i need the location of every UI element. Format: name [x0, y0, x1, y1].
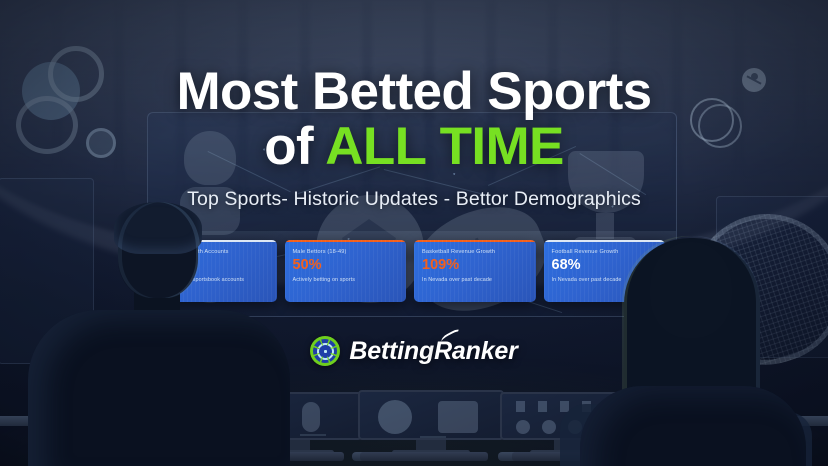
title-accent: ALL TIME	[325, 117, 564, 176]
circle-gauge-1	[516, 420, 530, 434]
basketball-icon	[378, 400, 412, 434]
male-viewer-silhouette	[34, 206, 280, 466]
stat-card[interactable]: Male Bettors (18-49) 50% Actively bettin…	[285, 240, 407, 302]
stat-glyph-2	[538, 401, 547, 412]
card-subtext: In Nevada over past decade	[422, 277, 528, 283]
silhouette-shoulders	[28, 310, 290, 466]
monitor-label-line-2	[300, 434, 326, 436]
field-map-icon	[438, 401, 478, 433]
monitor-stand	[416, 440, 446, 450]
female-viewer-silhouette	[576, 236, 806, 466]
brand-name: BettingRanker	[349, 337, 517, 366]
card-accent-bar	[285, 240, 407, 242]
card-value: 50%	[293, 256, 399, 274]
card-subtext: Actively betting on sports	[293, 277, 399, 283]
infographic-banner: Most Betted Sports of ALL TIME Top Sport…	[0, 0, 828, 466]
stat-card[interactable]: Basketball Revenue Growth 109% In Nevada…	[414, 240, 536, 302]
circle-gauge-2	[542, 420, 556, 434]
betting-ranker-wheel-logo-icon	[310, 336, 340, 366]
title-line-2: of ALL TIME	[0, 119, 828, 174]
logo-spokes	[310, 336, 340, 366]
monitor-label-line	[420, 436, 446, 438]
card-label: Male Bettors (18-49)	[293, 249, 399, 255]
title-line-1: Most Betted Sports	[0, 64, 828, 119]
page-title: Most Betted Sports of ALL TIME	[0, 64, 828, 174]
title-block: Most Betted Sports of ALL TIME Top Sport…	[0, 64, 828, 211]
monitor-basketball-center[interactable]	[358, 390, 504, 440]
stat-glyph-1	[516, 401, 525, 412]
silhouette-rimlight	[118, 202, 200, 298]
football-icon	[302, 402, 320, 432]
silhouette-shoulders	[580, 386, 806, 466]
title-prefix: of	[264, 117, 325, 176]
monitor-screen	[358, 390, 504, 440]
card-value: 109%	[422, 256, 528, 274]
card-accent-bar	[414, 240, 536, 242]
brand-name-part1: Betting	[349, 337, 434, 365]
keyboard-center[interactable]	[360, 452, 488, 461]
card-label: Basketball Revenue Growth	[422, 249, 528, 255]
